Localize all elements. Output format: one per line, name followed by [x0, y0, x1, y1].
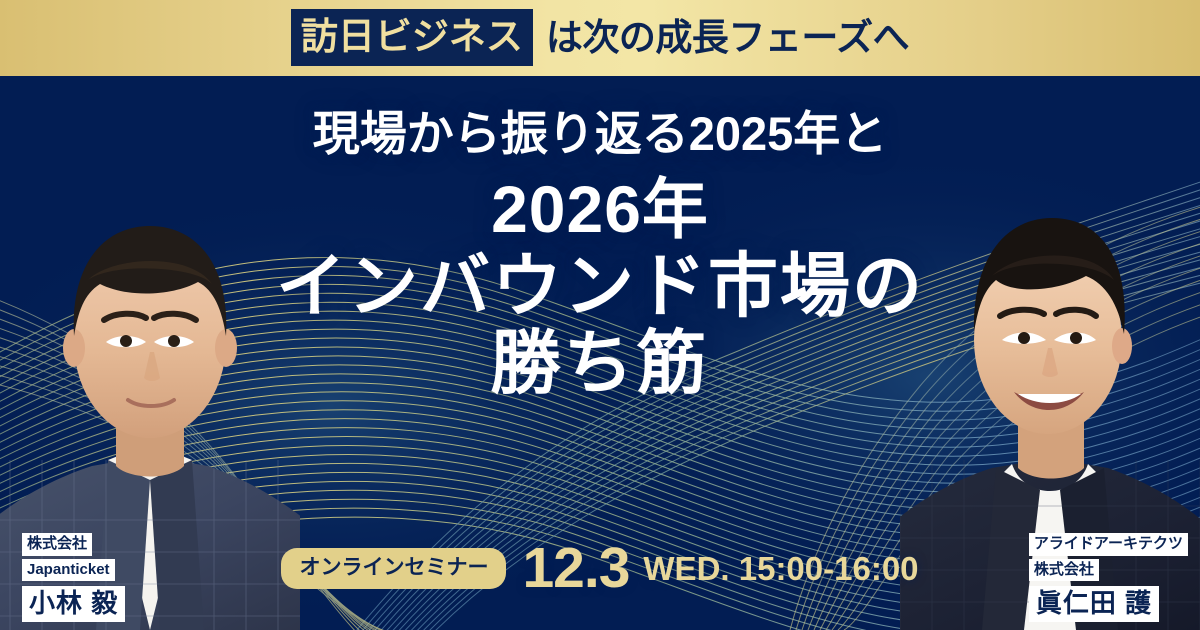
seminar-banner-canvas: 訪日ビジネス は次の成長フェーズへ 現場から振り返る2025年と 2026年 イ… [0, 0, 1200, 630]
top-gold-banner: 訪日ビジネス は次の成長フェーズへ [0, 0, 1200, 76]
speaker-nameplate-left: 株式会社 Japanticket 小林 毅 [22, 533, 125, 622]
speaker-right-name: 眞仁田 護 [1029, 586, 1159, 622]
banner-text-group: 訪日ビジネス は次の成長フェーズへ [291, 9, 909, 66]
speaker-left-name: 小林 毅 [22, 586, 125, 622]
speaker-right-org-line1: アライドアーキテクツ [1029, 533, 1188, 555]
banner-highlight-chip: 訪日ビジネス [291, 9, 533, 66]
speaker-left-org-line1: 株式会社 [22, 533, 92, 555]
banner-tail-text: は次の成長フェーズへ [546, 19, 909, 56]
speaker-right-org-line2: 株式会社 [1029, 559, 1099, 581]
speaker-left-org-line2: Japanticket [22, 559, 115, 581]
speaker-nameplate-right: アライドアーキテクツ 株式会社 眞仁田 護 [1029, 533, 1188, 622]
